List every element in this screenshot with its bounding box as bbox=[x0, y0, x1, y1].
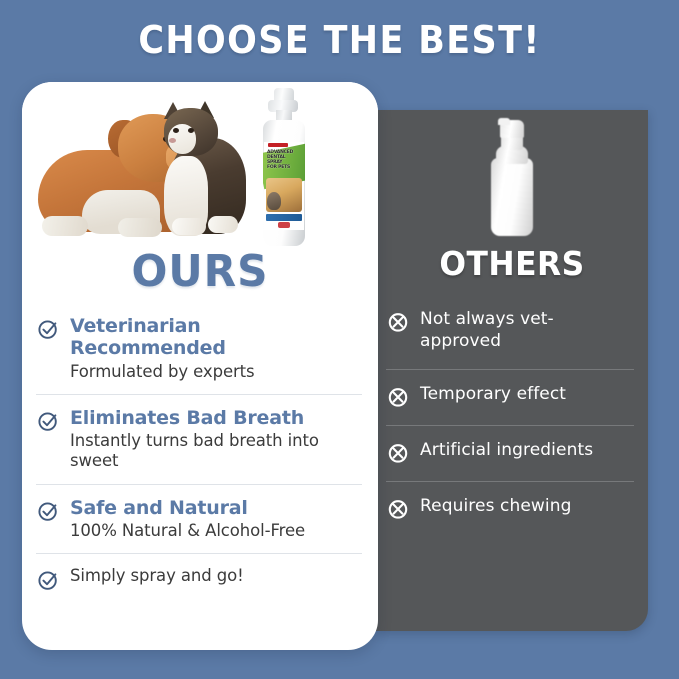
list-item-content: Veterinarian Recommended Formulated by e… bbox=[70, 315, 362, 382]
label-blue-bar bbox=[266, 214, 302, 221]
infographic-canvas: CHOOSE THE BEST! OTHERS bbox=[0, 0, 679, 679]
label-brand-bar bbox=[268, 143, 288, 147]
list-item-text: Requires chewing bbox=[420, 496, 572, 518]
others-list: Not always vet-approved Temporary effect bbox=[376, 305, 648, 537]
cat-eye bbox=[188, 128, 194, 133]
check-circle-icon bbox=[36, 568, 60, 592]
check-circle-icon bbox=[36, 317, 60, 341]
cross-circle-icon bbox=[386, 497, 410, 521]
label-seal bbox=[278, 222, 290, 228]
ours-panel: ADVANCED DENTAL SPRAY FOR PETS OURS bbox=[22, 82, 378, 650]
ours-product-image: ADVANCED DENTAL SPRAY FOR PETS bbox=[22, 82, 378, 250]
list-item-heading: Eliminates Bad Breath bbox=[70, 407, 362, 429]
cat-eye bbox=[173, 128, 179, 133]
list-item: Eliminates Bad Breath Instantly turns ba… bbox=[36, 394, 362, 484]
list-item-sub: Simply spray and go! bbox=[70, 566, 244, 586]
others-heading: OTHERS bbox=[383, 244, 641, 283]
list-item: Temporary effect bbox=[386, 369, 634, 425]
list-item-content: Safe and Natural 100% Natural & Alcohol-… bbox=[70, 497, 305, 542]
others-product-image bbox=[376, 110, 648, 242]
list-item: Veterinarian Recommended Formulated by e… bbox=[36, 313, 362, 394]
cat-nose bbox=[169, 138, 176, 143]
ours-heading: OURS bbox=[29, 246, 371, 297]
list-item: Not always vet-approved bbox=[386, 305, 634, 369]
check-circle-icon bbox=[36, 409, 60, 433]
page-title: CHOOSE THE BEST! bbox=[27, 18, 652, 62]
list-item-content: Eliminates Bad Breath Instantly turns ba… bbox=[70, 407, 362, 472]
cross-circle-icon bbox=[386, 441, 410, 465]
list-item: Artificial ingredients bbox=[386, 425, 634, 481]
others-panel: OTHERS Not always vet-approved bbox=[376, 110, 648, 631]
list-item-text: Artificial ingredients bbox=[420, 440, 593, 462]
bottle-body bbox=[491, 158, 533, 236]
dog-paw bbox=[42, 216, 88, 236]
list-item: Safe and Natural 100% Natural & Alcohol-… bbox=[36, 484, 362, 554]
list-item: Simply spray and go! bbox=[36, 553, 362, 604]
cat-paw bbox=[208, 216, 238, 233]
list-item-sub: Instantly turns bad breath into sweet bbox=[70, 431, 362, 471]
plain-white-bottle-icon bbox=[485, 118, 539, 238]
label-text-line: FOR PETS bbox=[267, 165, 297, 170]
list-item-sub: 100% Natural & Alcohol-Free bbox=[70, 521, 305, 541]
label-pet-photo bbox=[266, 178, 302, 212]
cross-circle-icon bbox=[386, 310, 410, 334]
cross-circle-icon bbox=[386, 385, 410, 409]
list-item-heading: Safe and Natural bbox=[70, 497, 305, 519]
product-spray-bottle: ADVANCED DENTAL SPRAY FOR PETS bbox=[254, 88, 314, 248]
list-item-heading: Veterinarian Recommended bbox=[70, 315, 362, 360]
bottle-label: ADVANCED DENTAL SPRAY FOR PETS bbox=[264, 142, 304, 230]
dog-and-cat-photo bbox=[30, 98, 248, 248]
dog-paw bbox=[118, 218, 162, 237]
ours-list: Veterinarian Recommended Formulated by e… bbox=[22, 313, 378, 604]
cat-paw bbox=[172, 218, 206, 235]
bottle-nozzle bbox=[498, 118, 510, 125]
list-item: Requires chewing bbox=[386, 481, 634, 537]
check-circle-icon bbox=[36, 499, 60, 523]
list-item-content: Simply spray and go! bbox=[70, 566, 244, 586]
bottle-body: ADVANCED DENTAL SPRAY FOR PETS bbox=[263, 120, 305, 246]
list-item-text: Not always vet-approved bbox=[420, 309, 634, 353]
list-item-sub: Formulated by experts bbox=[70, 362, 362, 382]
list-item-text: Temporary effect bbox=[420, 384, 566, 406]
